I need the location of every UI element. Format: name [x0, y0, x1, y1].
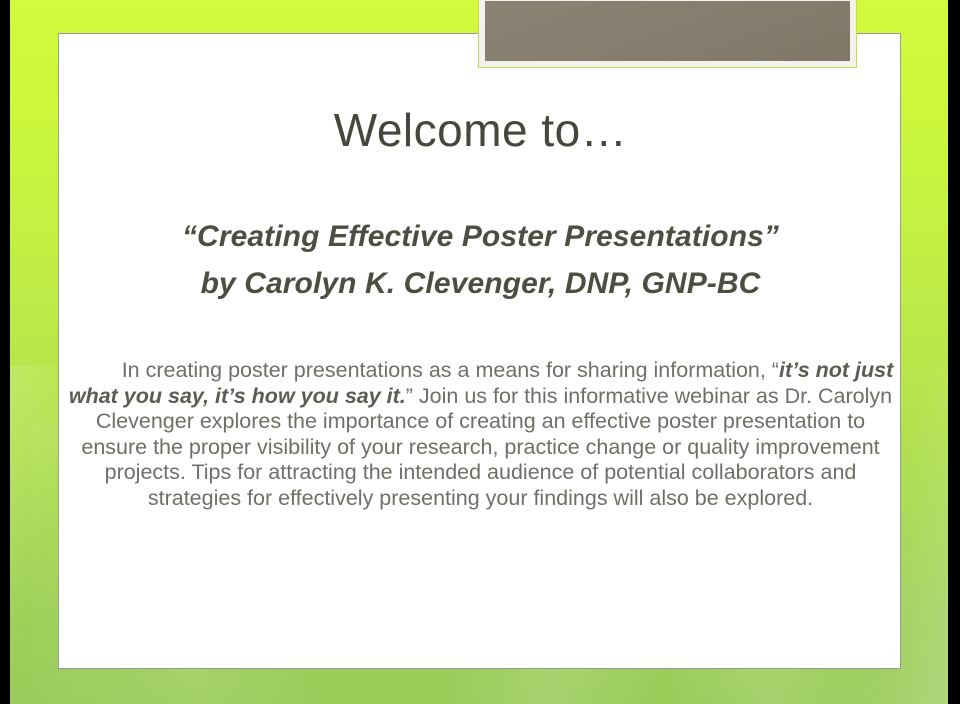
abstract-paragraph: In creating poster presentations as a me… [65, 358, 896, 512]
subtitle-line-presenter: by Carolyn K. Clevenger, DNP, GNP-BC [103, 261, 858, 308]
letterbox-bar-left [0, 0, 10, 704]
slide-content-card: Welcome to… “Creating Effective Poster P… [58, 33, 901, 669]
speaker-photo-frame [478, 0, 857, 68]
speaker-photo-placeholder [485, 1, 850, 61]
subtitle-line-title: “Creating Effective Poster Presentations… [103, 214, 858, 261]
letterbox-bar-right [948, 0, 960, 704]
slide-body-text: In creating poster presentations as a me… [65, 358, 896, 512]
body-text-before-quote: In creating poster presentations as a me… [122, 358, 779, 382]
presentation-slide: Welcome to… “Creating Effective Poster P… [0, 0, 960, 704]
page-title: Welcome to… [59, 106, 902, 154]
slide-subtitle: “Creating Effective Poster Presentations… [103, 214, 858, 307]
slide-text-content: Welcome to… “Creating Effective Poster P… [59, 34, 902, 670]
